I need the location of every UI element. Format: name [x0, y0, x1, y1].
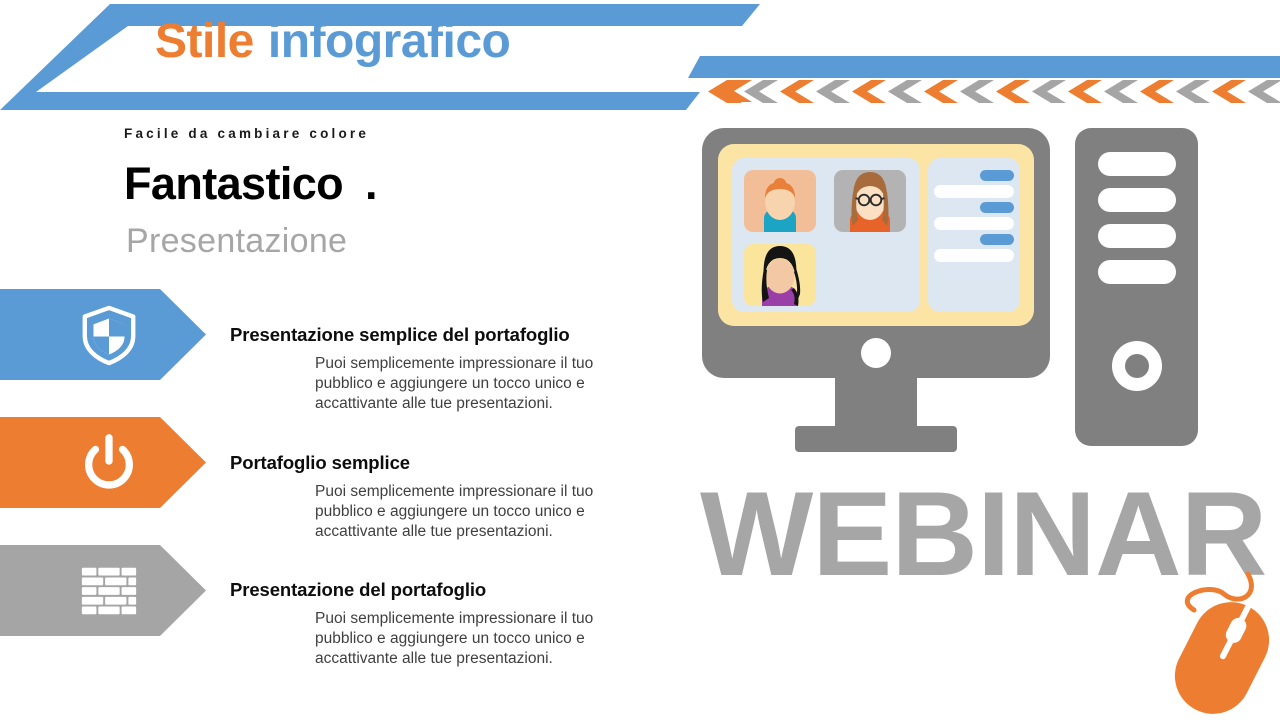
- feature-title-1: Presentazione semplice del portafoglio: [230, 324, 630, 346]
- tower-slot-4: [1098, 260, 1176, 284]
- chevron-10: [1032, 80, 1066, 103]
- computer-mouse-icon: [1152, 548, 1280, 720]
- power-ring-icon: [1112, 341, 1162, 391]
- chevron-12: [1104, 80, 1138, 103]
- chat-bubble-5: [980, 234, 1014, 245]
- header-blue-bar: [688, 56, 1280, 78]
- tower-pc-graphic: [1075, 128, 1198, 446]
- chevron-16: [1248, 80, 1280, 103]
- feature-title-2: Portafoglio semplice: [230, 452, 630, 474]
- feature-banner-1[interactable]: [0, 289, 206, 380]
- chevron-11: [1068, 80, 1102, 103]
- chevron-8: [960, 80, 994, 103]
- tower-slot-2: [1098, 188, 1176, 212]
- chevron-3: [780, 80, 814, 103]
- chevron-7: [924, 80, 958, 103]
- monitor-indicator-dot: [861, 338, 891, 368]
- title-word-stile: Stile: [155, 15, 254, 68]
- title-word-infografico: infografico: [268, 15, 511, 68]
- headline-dot: .: [365, 158, 377, 209]
- chat-bubble-6: [934, 249, 1014, 262]
- feature-banner-2[interactable]: [0, 417, 206, 508]
- feature-body-1: Puoi semplicemente impressionare il tuo …: [315, 354, 615, 413]
- chevron-13: [1140, 80, 1174, 103]
- chat-bubble-3: [980, 202, 1014, 213]
- feature-banner-3[interactable]: [0, 545, 206, 636]
- headline-text: Fantastico.: [124, 158, 377, 210]
- monitor-base: [795, 426, 957, 452]
- feature-text-3: Presentazione del portafoglio Puoi sempl…: [230, 579, 630, 668]
- chevron-15: [1212, 80, 1246, 103]
- feature-body-3: Puoi semplicemente impressionare il tuo …: [315, 609, 615, 668]
- chevron-2: [744, 80, 778, 103]
- slide-canvas: Stileinfografico Facile da cambiare colo…: [0, 0, 1280, 720]
- shield-icon: [78, 304, 140, 366]
- chevron-5: [852, 80, 886, 103]
- feature-title-3: Presentazione del portafoglio: [230, 579, 630, 601]
- chevron-14: [1176, 80, 1210, 103]
- chat-bubble-1: [980, 170, 1014, 181]
- participant-tile-2: [834, 170, 906, 232]
- chat-bubble-2: [934, 185, 1014, 198]
- firewall-brick-icon: [78, 560, 140, 622]
- chevron-9: [996, 80, 1030, 103]
- headline-word: Fantastico: [124, 158, 343, 209]
- chevron-6: [888, 80, 922, 103]
- subheadline-text: Presentazione: [126, 222, 347, 261]
- feature-text-1: Presentazione semplice del portafoglio P…: [230, 324, 630, 413]
- power-icon: [78, 432, 140, 494]
- tower-slot-1: [1098, 152, 1176, 176]
- participant-tile-3: [744, 244, 816, 306]
- participant-tile-1: [744, 170, 816, 232]
- page-title: Stileinfografico: [155, 16, 510, 69]
- monitor-graphic: [702, 128, 1050, 452]
- chevron-4: [816, 80, 850, 103]
- chat-bubble-4: [934, 217, 1014, 230]
- webinar-illustration: [680, 120, 1280, 480]
- tower-slot-3: [1098, 224, 1176, 248]
- kicker-text: Facile da cambiare colore: [124, 126, 369, 141]
- feature-body-2: Puoi semplicemente impressionare il tuo …: [315, 482, 615, 541]
- monitor-neck: [835, 378, 917, 426]
- feature-text-2: Portafoglio semplice Puoi semplicemente …: [230, 452, 630, 541]
